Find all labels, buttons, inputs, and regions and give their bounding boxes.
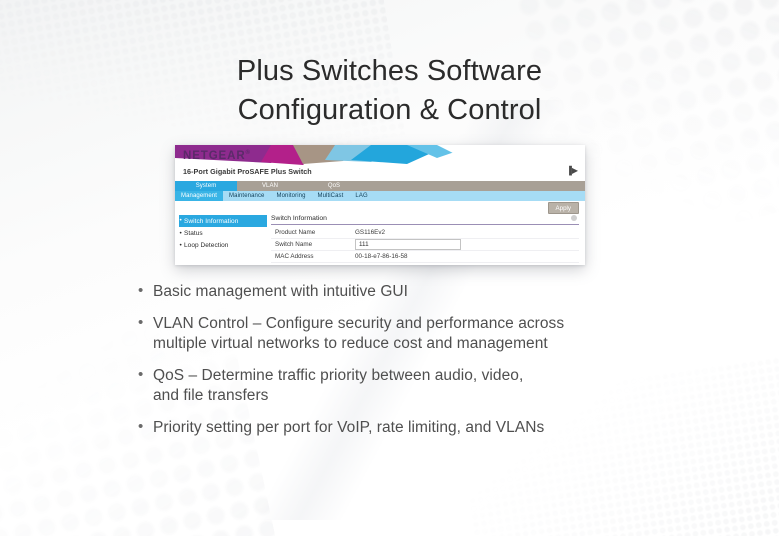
table-row: Switch Name 111 <box>271 239 579 251</box>
apply-bar: Apply <box>175 201 585 213</box>
product-name-label: Product Name <box>271 229 355 236</box>
bullet-2-line-2: multiple virtual networks to reduce cost… <box>153 334 678 354</box>
mac-address-label: MAC Address <box>271 253 355 260</box>
title-line-1: Plus Switches Software <box>0 52 779 91</box>
netgear-trademark: ® <box>246 150 250 156</box>
bullet-3-line-2: and file transfers <box>153 386 678 406</box>
tab-vlan[interactable]: VLAN <box>239 181 301 191</box>
help-icon[interactable] <box>571 215 577 221</box>
switch-information-panel: Switch Information Product Name GS116Ev2… <box>271 215 579 263</box>
table-row: MAC Address 00-18-e7-86-16-58 <box>271 251 579 263</box>
title-line-2: Configuration & Control <box>0 91 779 130</box>
switch-name-input[interactable]: 111 <box>355 239 461 250</box>
sidebar-item-loop-detection[interactable]: Loop Detection <box>179 239 267 251</box>
mac-address-value: 00-18-e7-86-16-58 <box>355 253 408 260</box>
logout-icon[interactable]: ▐▶ <box>566 167 578 175</box>
list-item: VLAN Control – Configure security and pe… <box>138 314 678 354</box>
subtab-maintenance[interactable]: Maintenance <box>223 191 270 201</box>
primary-tab-filler <box>367 181 585 191</box>
table-row: Product Name GS116Ev2 <box>271 227 579 239</box>
subtab-monitoring[interactable]: Monitoring <box>271 191 312 201</box>
tab-system[interactable]: System <box>175 181 237 191</box>
switch-sidebar-nav: Switch Information Status Loop Detection <box>179 215 267 252</box>
switch-name-label: Switch Name <box>271 241 355 248</box>
netgear-logo-text: NETGEAR <box>183 150 246 162</box>
panel-title-text: Switch Information <box>271 215 327 222</box>
product-name-value: GS116Ev2 <box>355 229 385 236</box>
panel-title: Switch Information <box>271 215 579 225</box>
switch-model-label: 16-Port Gigabit ProSAFE Plus Switch <box>183 167 312 176</box>
primary-tab-bar: System VLAN QoS <box>175 181 585 191</box>
bullet-1-line-1: Basic management with intuitive GUI <box>153 283 408 300</box>
list-item: Basic management with intuitive GUI <box>138 282 678 302</box>
bullet-3-line-1: QoS – Determine traffic priority between… <box>153 367 523 384</box>
feature-bullet-list: Basic management with intuitive GUI VLAN… <box>138 282 678 450</box>
list-item: QoS – Determine traffic priority between… <box>138 366 678 406</box>
slide-canvas: Plus Switches Software Configuration & C… <box>0 0 779 536</box>
page-title: Plus Switches Software Configuration & C… <box>0 52 779 130</box>
netgear-logo: NETGEAR® <box>183 150 250 162</box>
sidebar-item-status[interactable]: Status <box>179 227 267 239</box>
sidebar-item-switch-information[interactable]: Switch Information <box>179 215 267 227</box>
secondary-tab-bar: Management Maintenance Monitoring MultiC… <box>175 191 585 201</box>
embedded-switch-ui-screenshot: NETGEAR® 16-Port Gigabit ProSAFE Plus Sw… <box>175 145 585 265</box>
tab-qos[interactable]: QoS <box>303 181 365 191</box>
subtab-management[interactable]: Management <box>175 191 223 201</box>
list-item: Priority setting per port for VoIP, rate… <box>138 418 678 438</box>
subtab-lag[interactable]: LAG <box>349 191 373 201</box>
bullet-4-line-1: Priority setting per port for VoIP, rate… <box>153 419 544 436</box>
subtab-multicast[interactable]: MultiCast <box>312 191 350 201</box>
apply-button[interactable]: Apply <box>548 202 579 214</box>
bullet-2-line-1: VLAN Control – Configure security and pe… <box>153 315 564 332</box>
